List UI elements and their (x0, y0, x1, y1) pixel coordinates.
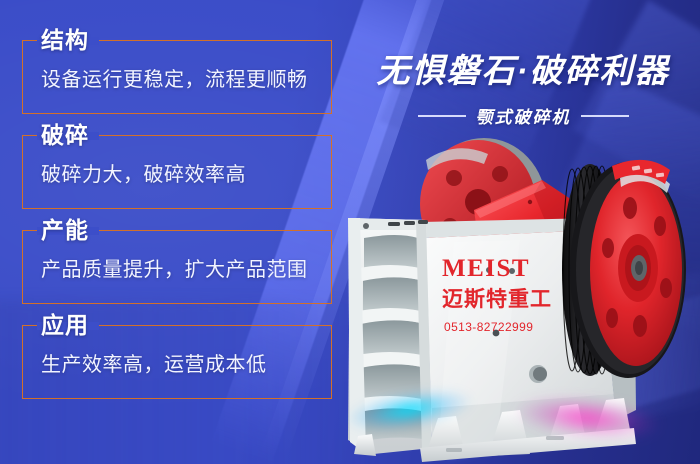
decorative-line-left (418, 115, 466, 117)
feature-card-capacity[interactable]: 产能 产品质量提升，扩大产品范围 (22, 230, 332, 304)
feature-card-desc: 设备运行更稳定，流程更顺畅 (41, 65, 308, 95)
feature-card-structure[interactable]: 结构 设备运行更稳定，流程更顺畅 (22, 40, 332, 114)
feature-card-title: 应用 (41, 310, 89, 340)
brand-phone-text: 0513-82722999 (444, 320, 533, 334)
main-flywheel (562, 160, 686, 378)
feature-card-list: 结构 设备运行更稳定，流程更顺畅 破碎 破碎力大，破碎效率高 产能 产品质量提升… (22, 40, 332, 399)
promo-banner: 无惧磐石·破碎利器 颚式破碎机 (0, 0, 700, 464)
brand-cn-text: 迈斯特重工 (442, 287, 552, 311)
decorative-line-right (581, 115, 629, 117)
headline-main: 无惧磐石·破碎利器 (358, 44, 688, 92)
feature-card-desc: 破碎力大，破碎效率高 (41, 160, 246, 190)
headline-block: 无惧磐石·破碎利器 颚式破碎机 (358, 44, 688, 128)
feature-card-desc: 产品质量提升，扩大产品范围 (41, 255, 308, 285)
feature-card-desc: 生产效率高，运营成本低 (41, 350, 267, 380)
feature-card-title: 破碎 (41, 120, 89, 150)
feature-card-title: 产能 (41, 215, 89, 245)
feature-card-title: 结构 (41, 25, 89, 55)
feature-card-application[interactable]: 应用 生产效率高，运营成本低 (22, 325, 332, 399)
brand-latin-text: MEIST (442, 255, 530, 282)
feature-card-crushing[interactable]: 破碎 破碎力大，破碎效率高 (22, 135, 332, 209)
